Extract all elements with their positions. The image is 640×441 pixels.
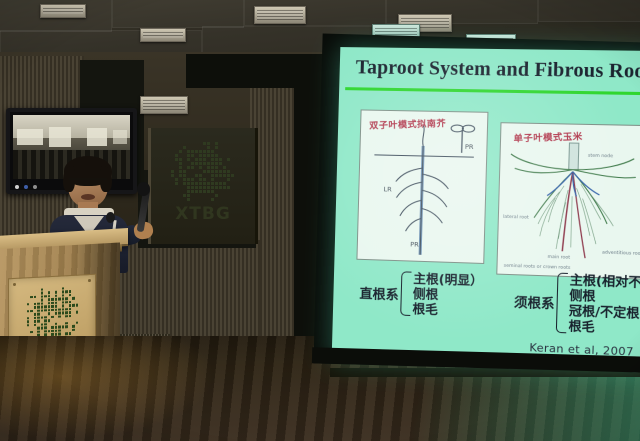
wall-logo-text: XTBG xyxy=(151,204,255,224)
fibrous-group-items: 主根(相对不 侧根 冠根/不定根 根毛 xyxy=(568,273,640,336)
microphone-head-icon xyxy=(137,182,150,196)
fibrous-label-lateral-root: lateral root xyxy=(503,215,529,221)
fibrous-label-stem-node: stem node xyxy=(588,154,613,160)
fibrous-label-main-root: main root xyxy=(547,255,570,261)
taproot-group-name: 直根系 xyxy=(359,282,399,303)
taproot-label-pr-top: PR xyxy=(465,143,474,151)
taproot-svg xyxy=(357,110,487,262)
mosaic-tree-icon xyxy=(23,282,81,337)
ceiling-vent xyxy=(40,4,86,18)
projection-screen: Taproot System and Fibrous Root Sy 双子叶模式… xyxy=(332,47,640,373)
brace-icon xyxy=(556,273,568,334)
brace-icon xyxy=(400,271,411,316)
fibrous-term-group: 须根系 主根(相对不 侧根 冠根/不定根 根毛 xyxy=(513,271,640,336)
microphone-stand-head xyxy=(106,212,115,223)
fibrous-root-diagram-panel: 单子叶模式玉米 xyxy=(496,122,640,279)
wall-logo-xtbg: XTBG xyxy=(148,128,258,244)
slide-title-rule xyxy=(345,87,640,95)
slide-title: Taproot System and Fibrous Root Sy xyxy=(355,57,640,84)
taproot-label-lr: LR xyxy=(383,185,391,193)
taproot-group-items: 主根(明显） 侧根 根毛 xyxy=(412,272,483,319)
taproot-diagram-panel: 双子叶模式拟南芥 PR LR PR xyxy=(356,109,488,264)
wall-vent xyxy=(140,96,188,114)
fibrous-group-name: 须根系 xyxy=(514,291,555,312)
monitor-bezel-indicators xyxy=(15,185,37,189)
speaker-mouth xyxy=(81,194,95,200)
mosaic-tree-icon xyxy=(167,138,239,202)
speaker-glasses xyxy=(69,178,107,189)
taproot-label-pr: PR xyxy=(410,240,419,248)
auditorium-photo: XTBG XTBG xyxy=(0,0,640,441)
taproot-item: 根毛 xyxy=(412,302,482,319)
wall-slat-panel xyxy=(120,240,260,346)
fibrous-item: 根毛 xyxy=(568,319,640,336)
ceiling-vent xyxy=(140,28,186,42)
ceiling-vent xyxy=(254,6,306,24)
taproot-term-group: 直根系 主根(明显） 侧根 根毛 xyxy=(359,270,483,319)
